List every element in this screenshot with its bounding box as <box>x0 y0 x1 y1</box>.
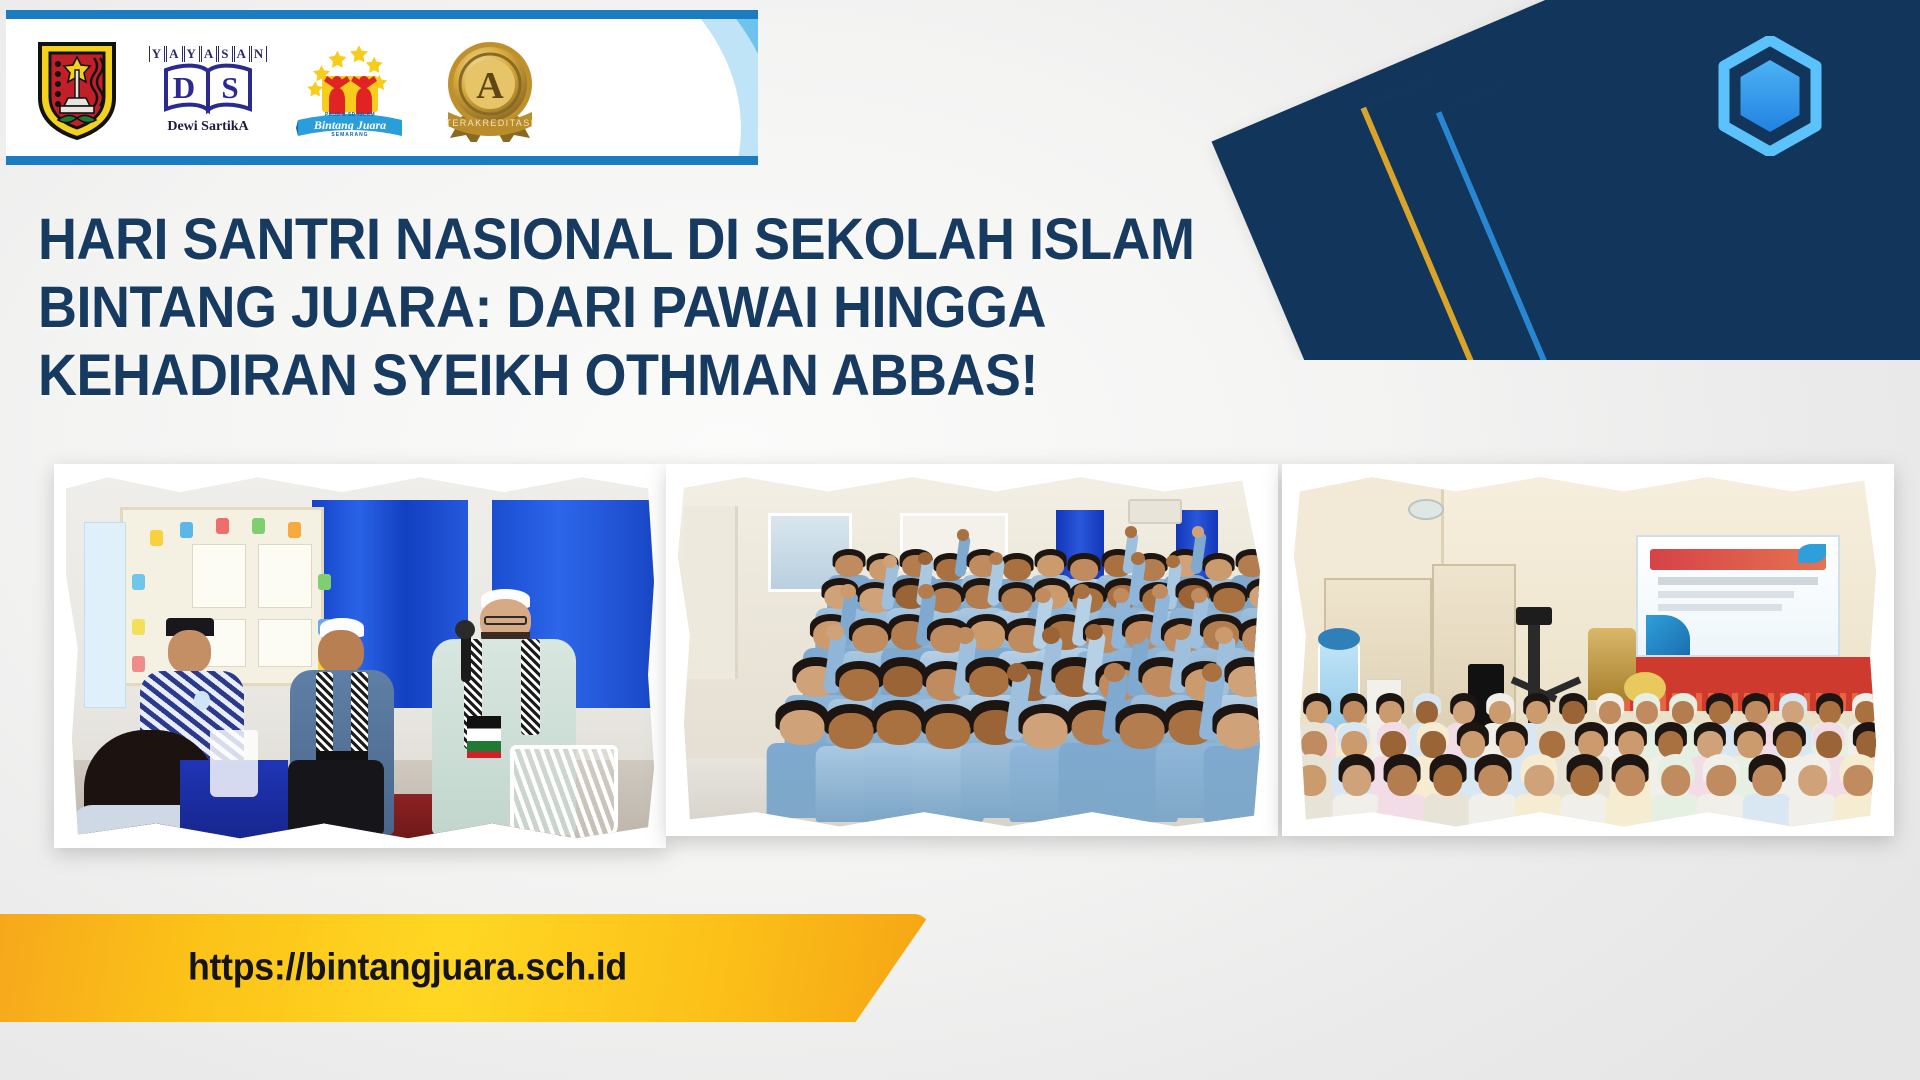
photo-2-scene <box>672 470 1272 830</box>
gold-accent-line <box>1360 0 1920 360</box>
dewi-sartika-name: Dewi SartikA <box>167 119 248 135</box>
yayasan-dewi-sartika-logo: YAYASAN D S Dewi SartikA <box>154 46 262 135</box>
audience-figure <box>1744 754 1790 830</box>
photo-panel-discussion <box>60 470 660 842</box>
page-title: HARI SANTRI NASIONAL DI SEKOLAH ISLAM BI… <box>38 206 1135 410</box>
navy-corner-shape <box>1212 0 1920 360</box>
website-url[interactable]: https://bintangjuara.sch.id <box>188 947 627 990</box>
audience-figure <box>1607 754 1653 830</box>
bintang-juara-logo: PAUD & SD ISLAM Bintang Juara SEMARANG <box>296 38 404 142</box>
top-right-decoration <box>1140 0 1920 360</box>
footer-url-bar: https://bintangjuara.sch.id <box>0 914 930 1022</box>
header-logo-bar: YAYASAN D S Dewi SartikA <box>6 10 758 165</box>
photo-assembly-hall <box>1288 470 1888 830</box>
photo-strip <box>0 470 1920 870</box>
svg-text:D: D <box>173 70 195 105</box>
audience-figure <box>1425 754 1471 830</box>
svg-text:TERAKREDITASI: TERAKREDITASI <box>445 118 534 128</box>
bintang-juara-ribbon: PAUD & SD ISLAM Bintang Juara SEMARANG <box>296 112 404 138</box>
hexagon-logo-mark <box>1716 36 1824 156</box>
ribbon-main-text: Bintang Juara <box>296 118 404 132</box>
ribbon-bottom-text: SEMARANG <box>296 132 404 138</box>
semarang-city-crest <box>34 40 120 140</box>
title-line-1: HARI SANTRI NASIONAL DI SEKOLAH ISLAM <box>38 206 1135 274</box>
logo-row: YAYASAN D S Dewi SartikA <box>34 35 542 145</box>
photo-3-scene <box>1288 470 1888 830</box>
svg-text:S: S <box>221 70 238 105</box>
title-line-2: BINTANG JUARA: DARI PAWAI HINGGA <box>38 274 1135 342</box>
photo-1-scene <box>60 470 660 842</box>
audience-figure <box>1790 754 1836 830</box>
title-line-3: KEHADIRAN SYEIKH OTHMAN ABBAS! <box>38 342 1135 410</box>
photo-student-group <box>672 470 1272 830</box>
yayasan-word: YAYASAN <box>149 46 268 62</box>
open-book-icon: D S <box>162 62 254 116</box>
blue-accent-line <box>1436 0 1920 360</box>
accreditation-a-badge: A TERAKREDITASI <box>438 38 542 142</box>
blue-wave-decoration <box>548 10 758 165</box>
svg-text:A: A <box>476 65 504 107</box>
